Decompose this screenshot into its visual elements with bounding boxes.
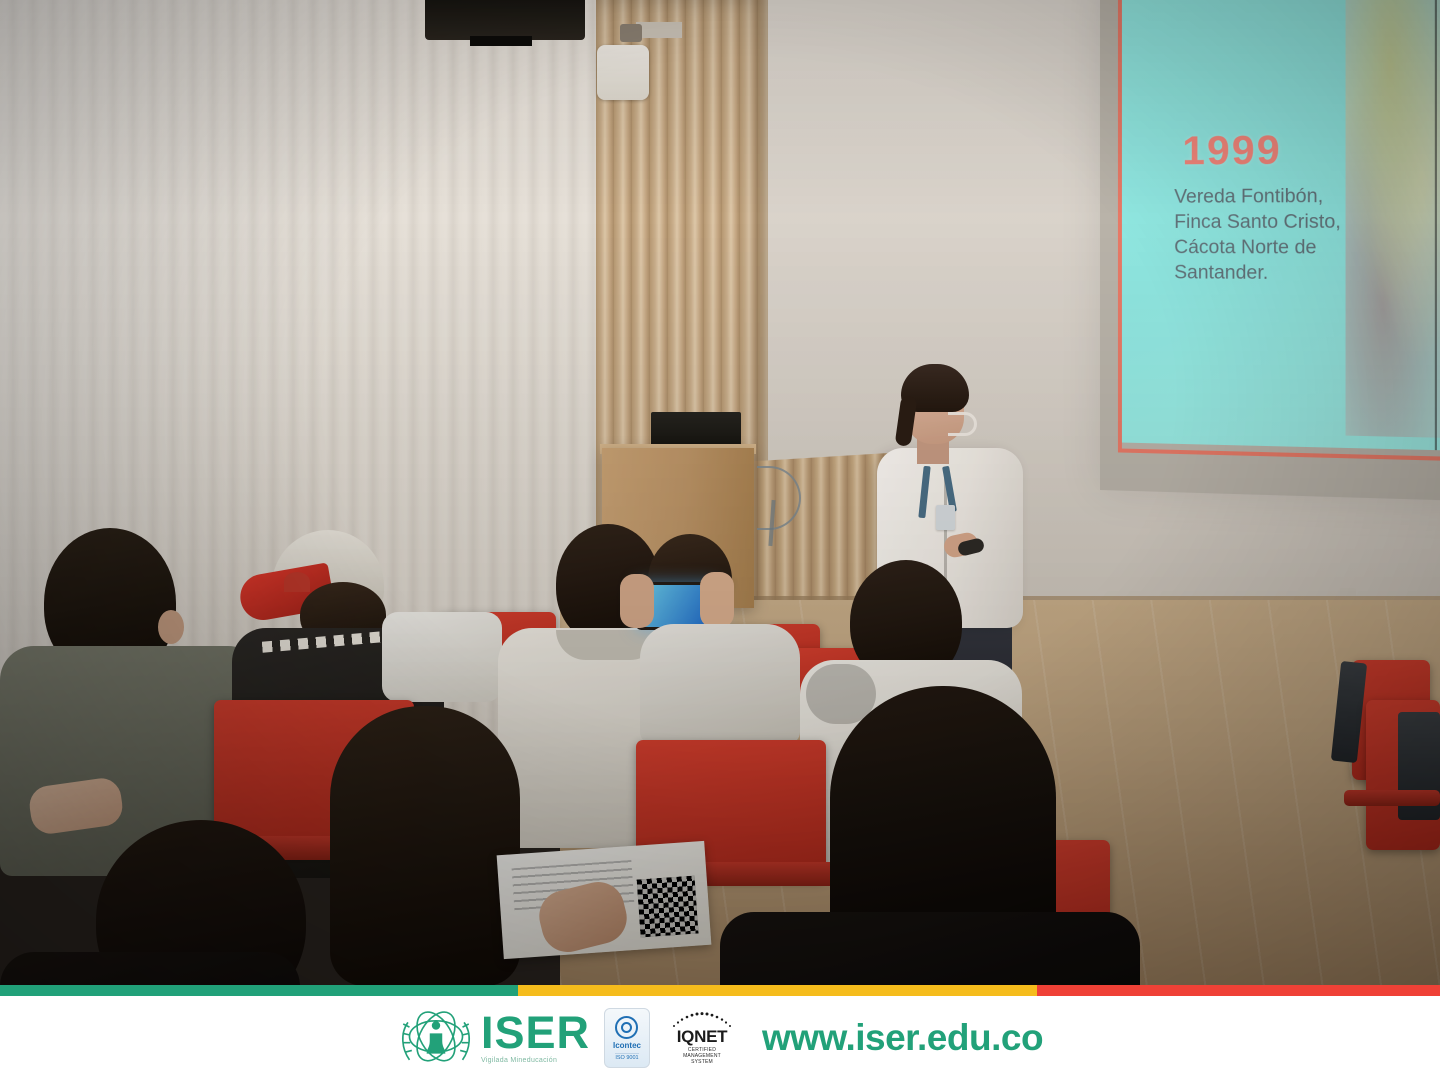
ceiling-speaker-icon bbox=[425, 0, 585, 40]
seat-armrest-right bbox=[1344, 790, 1440, 806]
icontec-standard-label: ISO 9001 bbox=[615, 1053, 638, 1061]
wall-bracket bbox=[636, 22, 682, 38]
presenter-id-badge bbox=[936, 505, 955, 530]
audience-hand-right bbox=[700, 572, 734, 628]
screenshot-root: 1999 Vereda Fontibón, Finca Santo Cristo… bbox=[0, 0, 1440, 1080]
audience-hand-left bbox=[620, 574, 654, 628]
slide-border-frame bbox=[1118, 0, 1440, 462]
photograph: 1999 Vereda Fontibón, Finca Santo Cristo… bbox=[0, 0, 1440, 985]
wall-mounted-box bbox=[597, 45, 649, 100]
iqnet-sub-line-1: CERTIFIED bbox=[688, 1047, 716, 1053]
iser-wordmark: ISER bbox=[481, 1012, 590, 1055]
qr-code-icon bbox=[637, 876, 699, 938]
iqnet-arc-dots-icon bbox=[669, 1011, 735, 1028]
audience-ear bbox=[158, 610, 184, 644]
iser-tagline: Vigilada Mineducación bbox=[481, 1057, 557, 1064]
iqnet-badge: IQNET CERTIFIED MANAGEMENT SYSTEM bbox=[664, 1011, 740, 1066]
icontec-dot-icon bbox=[621, 1022, 632, 1033]
ceiling-speaker-mount bbox=[470, 36, 532, 46]
iser-logo: ISER Vigilada Mineducación bbox=[397, 1002, 590, 1074]
projection-screen: 1999 Vereda Fontibón, Finca Santo Cristo… bbox=[1100, 0, 1440, 501]
iser-atom-logo-icon bbox=[397, 1002, 475, 1074]
iqnet-subtitle: CERTIFIED MANAGEMENT SYSTEM bbox=[683, 1047, 721, 1066]
footer-bar: ISER Vigilada Mineducación Icontec ISO 9… bbox=[0, 996, 1440, 1080]
audience-head bbox=[830, 686, 1056, 946]
audience-torso bbox=[0, 952, 300, 985]
audience-head bbox=[330, 706, 520, 985]
wall-bracket-arm bbox=[620, 24, 642, 42]
iqnet-wordmark: IQNET bbox=[677, 1028, 727, 1045]
audience-torso bbox=[382, 612, 502, 702]
color-bar-green bbox=[0, 985, 518, 996]
color-bar-yellow bbox=[518, 985, 1036, 996]
iqnet-sub-line-2: MANAGEMENT bbox=[683, 1053, 721, 1059]
headset-microphone-icon bbox=[948, 412, 977, 436]
iser-wordmark-block: ISER Vigilada Mineducación bbox=[481, 1012, 590, 1064]
color-bar-red bbox=[1037, 985, 1440, 996]
brand-color-bar bbox=[0, 985, 1440, 996]
audience-torso bbox=[640, 624, 800, 744]
iqnet-sub-line-3: SYSTEM bbox=[691, 1059, 713, 1065]
icontec-badge: Icontec ISO 9001 bbox=[604, 1008, 650, 1068]
icontec-ring-icon bbox=[615, 1016, 638, 1039]
audience-torso bbox=[720, 912, 1140, 985]
cap-logo-icon bbox=[284, 572, 310, 592]
website-url[interactable]: www.iser.edu.co bbox=[762, 1017, 1043, 1059]
icontec-label: Icontec bbox=[613, 1041, 641, 1050]
